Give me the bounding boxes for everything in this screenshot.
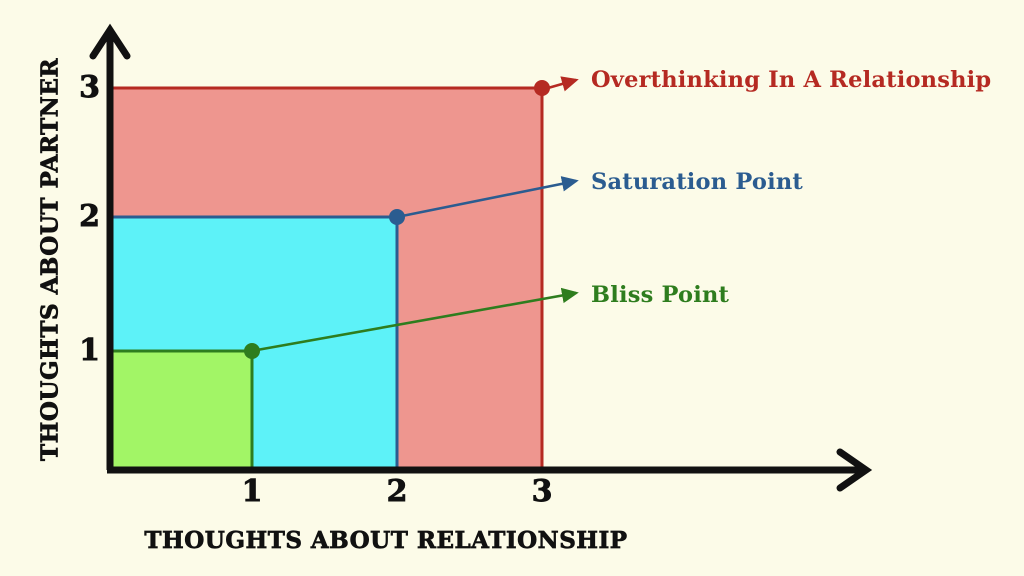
annotation-label-bliss: Bliss Point xyxy=(591,282,729,308)
annotation-label-overthinking: Overthinking In A Relationship xyxy=(591,67,991,93)
y-tick-label-3: 3 xyxy=(62,70,100,105)
y-axis-title: THOUGHTS ABOUT PARTNER xyxy=(37,10,64,510)
chart-figure: THOUGHTS ABOUT PARTNER THOUGHTS ABOUT RE… xyxy=(0,0,1024,576)
x-tick-label-2: 2 xyxy=(377,474,417,509)
overthinking-point-marker[interactable] xyxy=(534,80,550,96)
saturation-point-marker[interactable] xyxy=(389,209,405,225)
overthinking-leader-line xyxy=(548,80,576,88)
x-tick-label-3: 3 xyxy=(522,474,562,509)
x-tick-label-1: 1 xyxy=(232,474,272,509)
x-axis-title: THOUGHTS ABOUT RELATIONSHIP xyxy=(112,527,660,554)
bliss-point-marker[interactable] xyxy=(244,343,260,359)
annotation-label-saturation: Saturation Point xyxy=(591,169,803,195)
bliss-region xyxy=(110,351,252,470)
y-tick-label-1: 1 xyxy=(62,333,100,368)
y-tick-label-2: 2 xyxy=(62,199,100,234)
